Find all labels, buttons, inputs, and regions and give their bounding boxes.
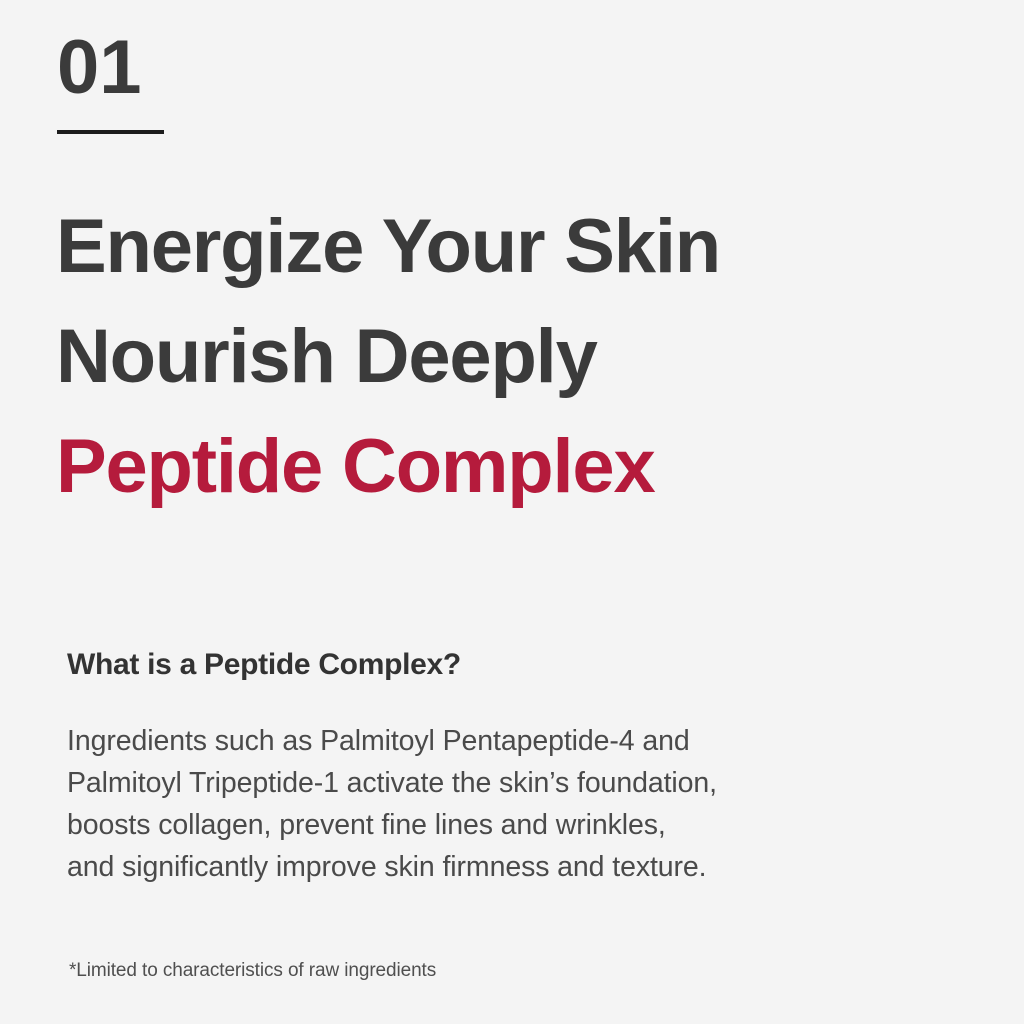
headline-line-3-accent: Peptide Complex xyxy=(56,412,720,522)
section-subheading: What is a Peptide Complex? xyxy=(67,645,461,685)
step-number: 01 xyxy=(57,30,164,106)
page-title: Energize Your Skin Nourish Deeply Peptid… xyxy=(56,192,720,522)
headline-line-2: Nourish Deeply xyxy=(56,302,720,412)
step-divider-rule xyxy=(57,130,164,134)
body-line-3: boosts collagen, prevent fine lines and … xyxy=(67,804,717,846)
step-indicator: 01 xyxy=(57,30,164,134)
promo-slide: 01 Energize Your Skin Nourish Deeply Pep… xyxy=(0,0,1024,1024)
body-line-2: Palmitoyl Tripeptide-1 activate the skin… xyxy=(67,762,717,804)
body-line-4: and significantly improve skin firmness … xyxy=(67,846,717,888)
body-line-1: Ingredients such as Palmitoyl Pentapepti… xyxy=(67,720,717,762)
section-body-copy: Ingredients such as Palmitoyl Pentapepti… xyxy=(67,720,717,888)
footnote-disclaimer: *Limited to characteristics of raw ingre… xyxy=(69,958,436,984)
headline-line-1: Energize Your Skin xyxy=(56,192,720,302)
